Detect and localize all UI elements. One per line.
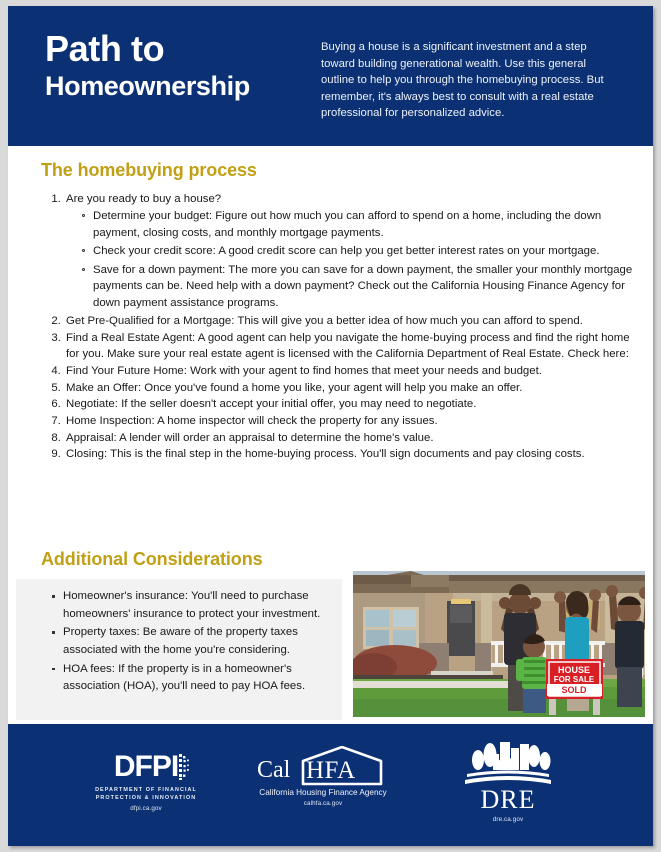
dre-acronym: DRE: [433, 787, 583, 813]
substeps-list-1: Determine your budget: Figure out how mu…: [66, 208, 636, 311]
logo-calhfa[interactable]: Cal HFA California Housing Finance Agenc…: [228, 746, 418, 807]
calhfa-cal-text: Cal: [257, 758, 290, 782]
section-heading-additional-considerations: Additional Considerations: [41, 549, 263, 570]
substep-item: Save for a down payment: The more you ca…: [82, 262, 636, 312]
step-item-1: Are you ready to buy a house? Determine …: [64, 191, 636, 311]
dfpi-subtitle-line1: DEPARTMENT OF FINANCIAL: [66, 786, 226, 794]
dfpi-subtitle-line2: PROTECTION & INNOVATION: [66, 794, 226, 802]
page-header: Path to Homeownership Buying a house is …: [8, 6, 653, 146]
logo-dre[interactable]: DRE dre.ca.gov: [433, 740, 583, 823]
step-item-6: Negotiate: If the seller doesn't accept …: [64, 396, 636, 412]
additional-considerations-list: Homeowner's insurance: You'll need to pu…: [51, 588, 336, 697]
page-title-line1: Path to: [45, 28, 164, 69]
page-title-line2: Homeownership: [45, 71, 315, 102]
dfpi-dots-icon: [179, 754, 191, 780]
calhfa-subtitle: California Housing Finance Agency: [228, 788, 418, 797]
consideration-item: Homeowner's insurance: You'll need to pu…: [51, 588, 336, 623]
dfpi-acronym: DFPI: [114, 752, 178, 782]
document-page: Path to Homeownership Buying a house is …: [8, 6, 653, 846]
step-item-9: Closing: This is the final step in the h…: [64, 446, 636, 462]
substep-item: Check your credit score: A good credit s…: [82, 243, 636, 260]
substep-item: Determine your budget: Figure out how mu…: [82, 208, 636, 241]
step-item-4: Find Your Future Home: Work with your ag…: [64, 363, 636, 379]
logo-dfpi[interactable]: DFPI: [66, 752, 226, 812]
svg-text:SOLD: SOLD: [561, 685, 587, 695]
dfpi-website[interactable]: dfpi.ca.gov: [66, 805, 226, 812]
step-item-3: Find a Real Estate Agent: A good agent c…: [64, 330, 636, 362]
calhfa-hfa-text: HFA: [306, 758, 356, 783]
svg-text:FOR SALE: FOR SALE: [554, 675, 595, 684]
page-footer: DFPI: [8, 724, 653, 846]
calhfa-mark: Cal HFA: [228, 746, 418, 786]
page-title: Path to Homeownership: [45, 28, 315, 102]
family-house-photo: HOUSE FOR SALE SOLD: [353, 571, 645, 717]
section-heading-homebuying-process: The homebuying process: [41, 160, 257, 181]
dre-website[interactable]: dre.ca.gov: [433, 816, 583, 823]
step-item-2: Get Pre-Qualified for a Mortgage: This w…: [64, 313, 636, 329]
step-item-5: Make an Offer: Once you've found a home …: [64, 380, 636, 396]
step-text: Are you ready to buy a house?: [66, 193, 221, 205]
header-intro-text: Buying a house is a significant investme…: [321, 39, 609, 122]
calhfa-website[interactable]: calhfa.ca.gov: [228, 800, 418, 807]
consideration-item: HOA fees: If the property is in a homeow…: [51, 661, 336, 696]
consideration-item: Property taxes: Be aware of the property…: [51, 624, 336, 659]
homebuying-steps-list: Are you ready to buy a house? Determine …: [44, 191, 636, 463]
dfpi-subtitle: DEPARTMENT OF FINANCIAL PROTECTION & INN…: [66, 786, 226, 802]
dfpi-acronym-text: DFPI: [114, 750, 178, 783]
step-item-7: Home Inspection: A home inspector will c…: [64, 413, 636, 429]
dre-skyline-icon: [433, 740, 583, 786]
svg-text:HOUSE: HOUSE: [558, 665, 590, 675]
step-item-8: Appraisal: A lender will order an apprai…: [64, 430, 636, 446]
